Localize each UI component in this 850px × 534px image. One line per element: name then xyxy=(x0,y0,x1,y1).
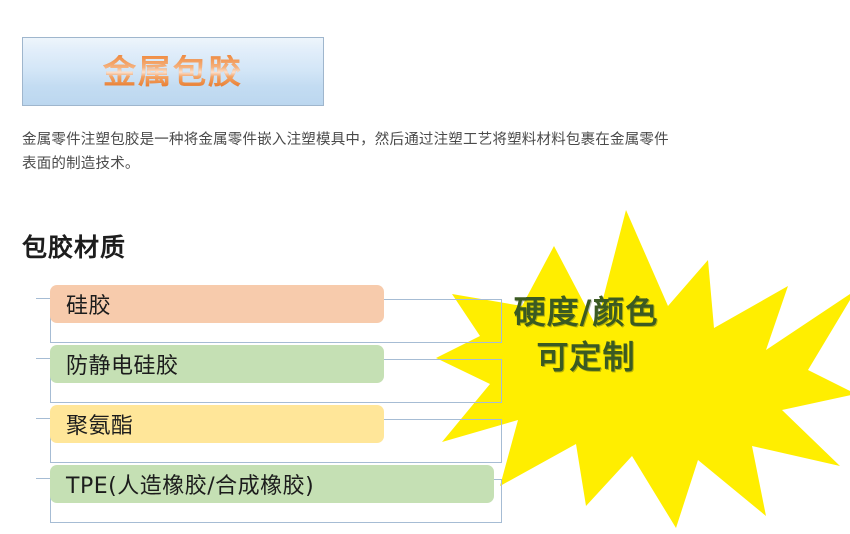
connector-line xyxy=(36,418,51,419)
list-item[interactable]: TPE(人造橡胶/合成橡胶) xyxy=(36,465,496,523)
material-bar[interactable]: 防静电硅胶 xyxy=(50,345,384,383)
title-banner: 金属包胶 xyxy=(22,37,324,106)
slide-canvas: 金属包胶 金属零件注塑包胶是一种将金属零件嵌入注塑模具中，然后通过注塑工艺将塑料… xyxy=(0,0,850,534)
material-label: 聚氨酯 xyxy=(66,408,134,440)
material-bar[interactable]: TPE(人造橡胶/合成橡胶) xyxy=(50,465,494,503)
materials-list: 硅胶 防静电硅胶 聚氨酯 TPE(人造橡胶/合成橡胶) xyxy=(36,285,496,525)
page-title: 金属包胶 xyxy=(103,55,243,88)
material-label: 防静电硅胶 xyxy=(66,348,179,380)
connector-line xyxy=(36,298,51,299)
list-item[interactable]: 防静电硅胶 xyxy=(36,345,496,403)
list-item[interactable]: 聚氨酯 xyxy=(36,405,496,463)
list-item[interactable]: 硅胶 xyxy=(36,285,496,343)
material-label: 硅胶 xyxy=(66,288,111,320)
material-bar[interactable]: 硅胶 xyxy=(50,285,384,323)
material-bar[interactable]: 聚氨酯 xyxy=(50,405,384,443)
intro-paragraph: 金属零件注塑包胶是一种将金属零件嵌入注塑模具中，然后通过注塑工艺将塑料材料包裹在… xyxy=(22,128,682,176)
material-label: TPE(人造橡胶/合成橡胶) xyxy=(66,468,314,500)
connector-line xyxy=(36,478,51,479)
connector-line xyxy=(36,358,51,359)
section-heading-materials: 包胶材质 xyxy=(22,228,126,264)
